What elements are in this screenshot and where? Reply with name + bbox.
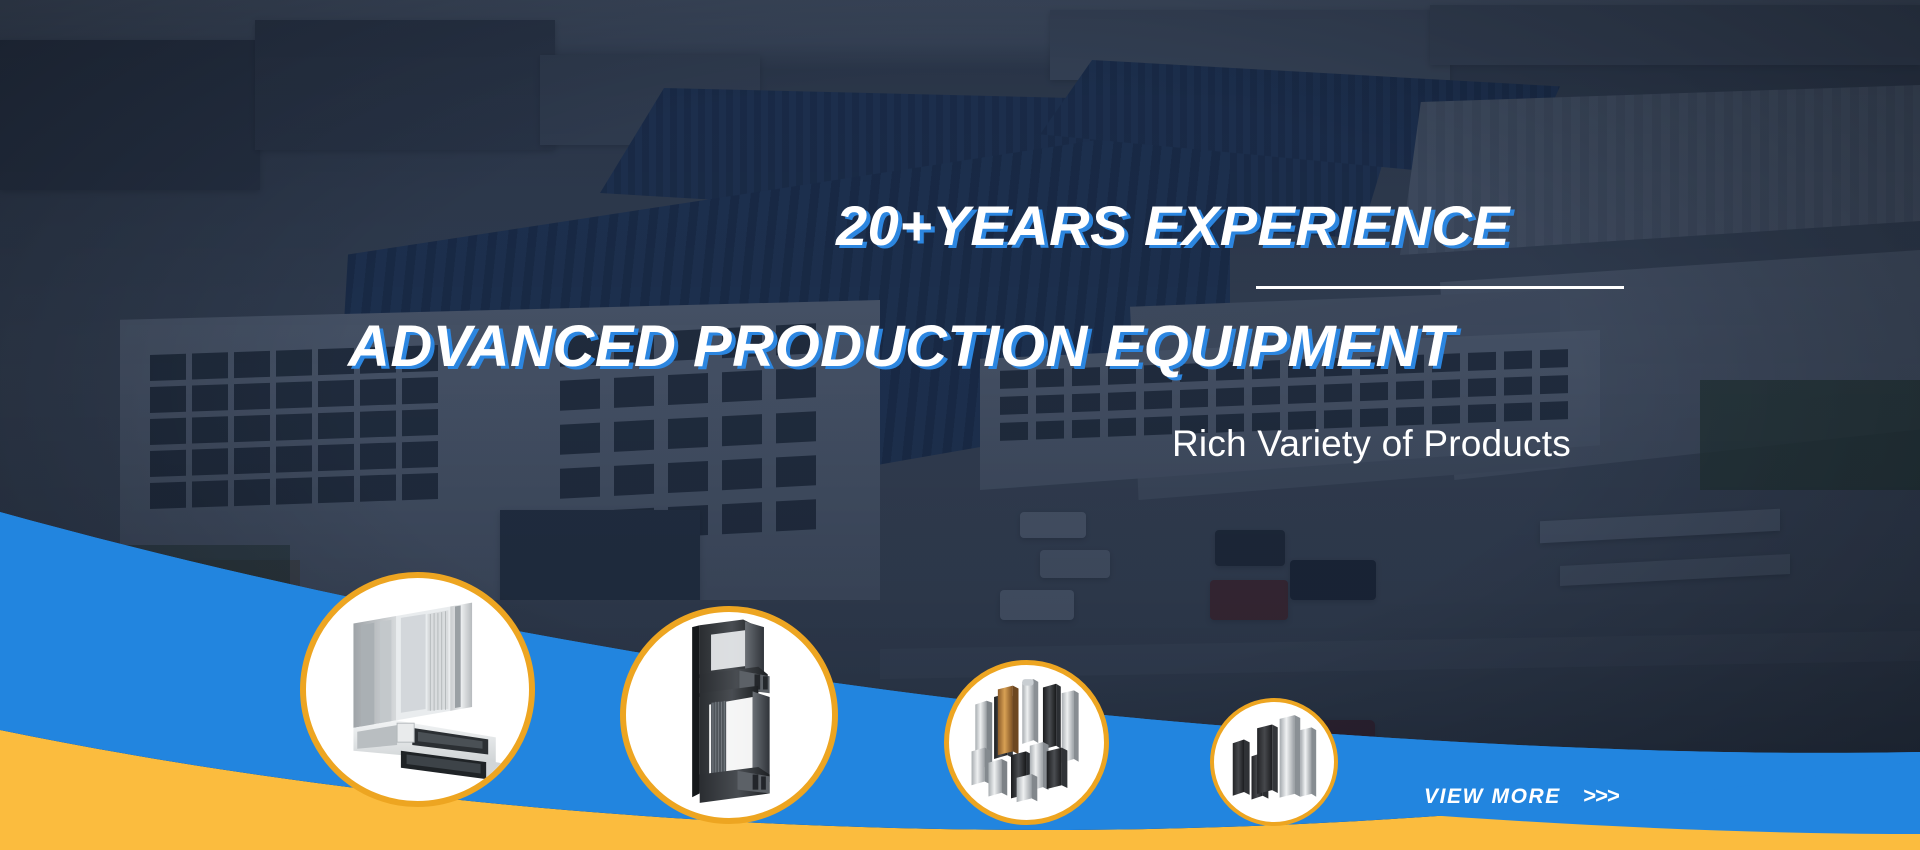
product-circle-assorted-aluminium-extrusions[interactable] <box>944 660 1109 825</box>
black-casement-window-profile-icon <box>626 606 832 824</box>
chevrons-right-icon: >>> <box>1583 785 1619 807</box>
product-circle-dark-and-silver-profile-bars[interactable] <box>1210 698 1338 826</box>
hero-banner: 20+YEARS EXPERIENCE ADVANCED PRODUCTION … <box>0 0 1920 850</box>
assorted-aluminium-extrusions-icon <box>949 660 1104 825</box>
view-more-label: VIEW MORE <box>1424 786 1561 807</box>
product-circle-black-casement-window-profile[interactable] <box>620 606 838 824</box>
view-more-button[interactable]: VIEW MORE >>> <box>1424 785 1618 807</box>
headline-primary: 20+YEARS EXPERIENCE <box>836 198 1510 254</box>
aluminium-window-frame-corner-profile-icon <box>306 572 529 807</box>
product-circle-aluminium-window-frame-corner-profile[interactable] <box>300 572 535 807</box>
headline-secondary: ADVANCED PRODUCTION EQUIPMENT <box>348 318 1454 376</box>
dark-and-silver-profile-bars-icon <box>1214 698 1334 826</box>
headline-divider-line <box>1256 286 1624 289</box>
